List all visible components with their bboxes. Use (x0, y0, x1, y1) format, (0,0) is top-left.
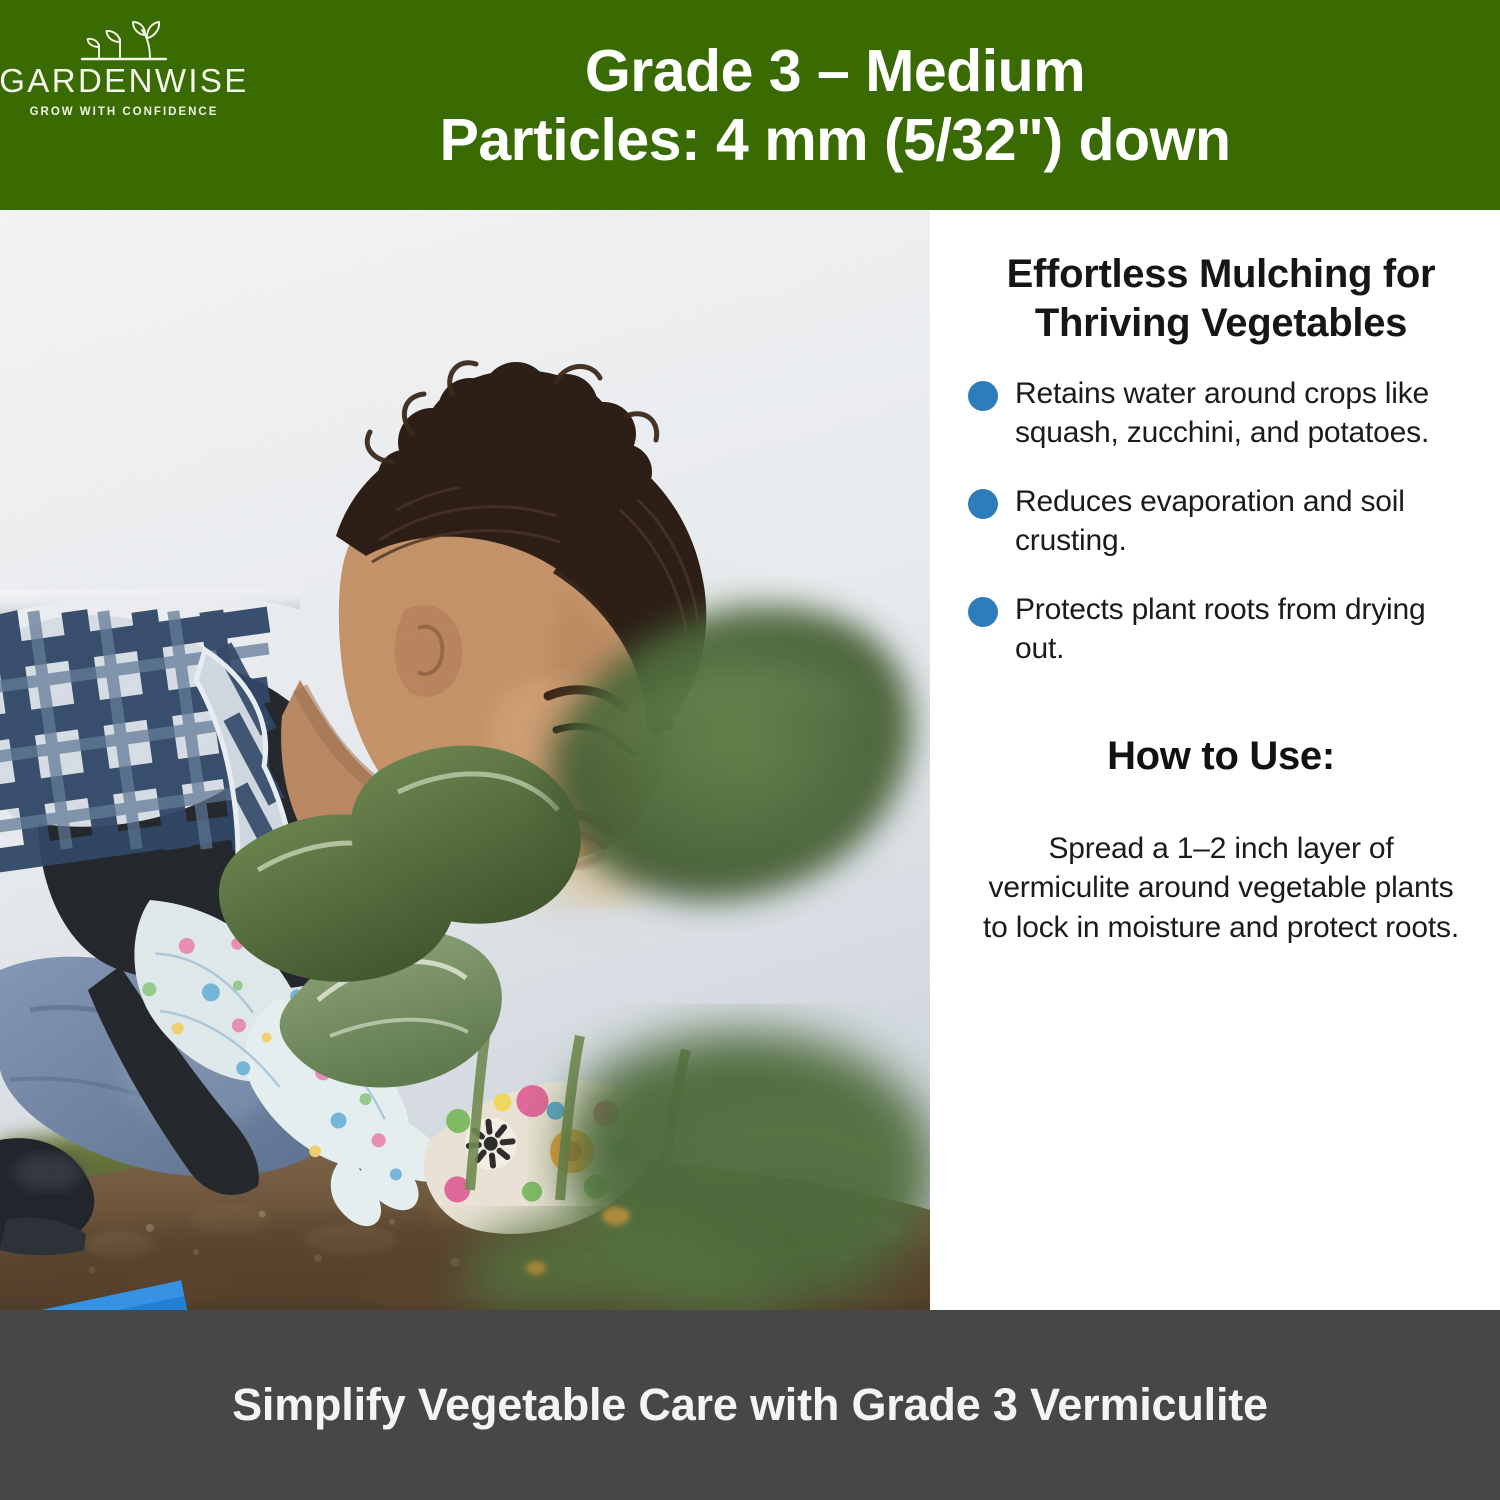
panel-heading: Effortless Mulching for Thriving Vegetab… (968, 250, 1474, 348)
page-title: Grade 3 – Medium Particles: 4 mm (5/32")… (249, 37, 1250, 175)
list-item: Retains water around crops like squash, … (968, 374, 1474, 452)
header-title-line2: Particles: 4 mm (5/32") down (439, 106, 1230, 175)
list-item: Reduces evaporation and soil crusting. (968, 482, 1474, 560)
header-title-line1: Grade 3 – Medium (585, 38, 1085, 104)
list-item: Protects plant roots from drying out. (968, 590, 1474, 668)
bullet-dot-icon (968, 597, 998, 627)
product-infographic: GARDENWISE GROW WITH CONFIDENCE Grade 3 … (0, 0, 1500, 1500)
benefit-list: Retains water around crops like squash, … (968, 374, 1474, 698)
info-panel: Effortless Mulching for Thriving Vegetab… (930, 210, 1500, 1310)
content-row: Effortless Mulching for Thriving Vegetab… (0, 210, 1500, 1310)
howto-text: Spread a 1–2 inch layer of vermiculite a… (968, 829, 1474, 948)
header-banner: GARDENWISE GROW WITH CONFIDENCE Grade 3 … (0, 0, 1500, 210)
footer-banner: Simplify Vegetable Care with Grade 3 Ver… (0, 1310, 1500, 1500)
bullet-dot-icon (968, 489, 998, 519)
brand-logo: GARDENWISE GROW WITH CONFIDENCE (8, 14, 240, 118)
seedling-sprouts-icon (64, 14, 184, 66)
benefit-text: Reduces evaporation and soil crusting. (1015, 482, 1474, 560)
benefit-text: Protects plant roots from drying out. (1015, 590, 1474, 668)
brand-tagline: GROW WITH CONFIDENCE (30, 106, 219, 118)
footer-text: Simplify Vegetable Care with Grade 3 Ver… (112, 1378, 1388, 1433)
benefit-text: Retains water around crops like squash, … (1015, 374, 1474, 452)
howto-heading: How to Use: (968, 734, 1474, 779)
bullet-dot-icon (968, 381, 998, 411)
brand-name: GARDENWISE (0, 64, 249, 97)
garden-photo (0, 210, 930, 1310)
